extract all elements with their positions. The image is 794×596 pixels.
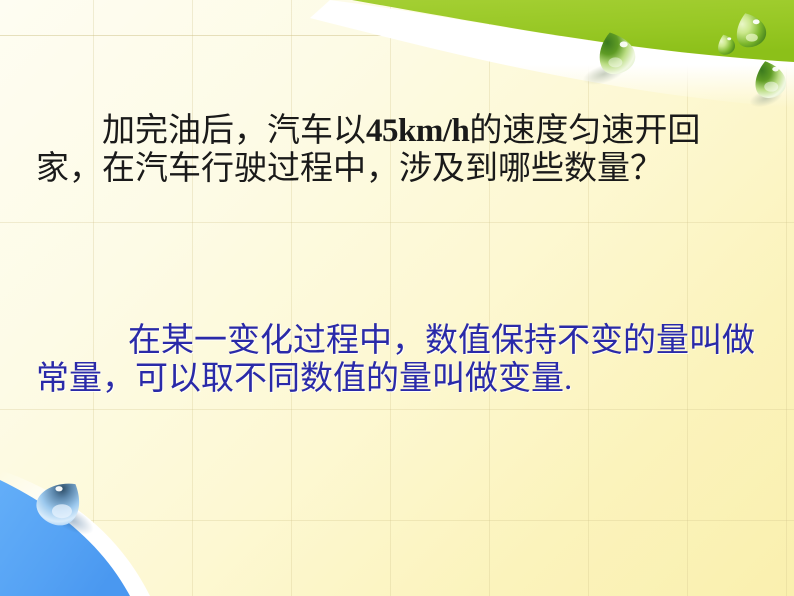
water-droplet-blue [30, 471, 90, 533]
droplet-blue-shadow [42, 497, 98, 541]
green-curved-band [352, 0, 794, 62]
question-text-prefix: 加完油后，汽车以 [102, 113, 366, 149]
question-speed-value: 45km/h [366, 113, 469, 149]
droplet-edge-shadow [580, 59, 627, 90]
water-droplet-medium-green [729, 8, 770, 51]
background-grid [0, 0, 794, 596]
water-droplet-large-green [748, 57, 790, 102]
blue-curved-band [0, 480, 130, 596]
white-curved-band [310, 0, 794, 108]
bottom-decoration-group [0, 436, 330, 596]
question-paragraph: 加完油后，汽车以45km/h的速度匀速开回家，在汽车行驶过程中，涉及到哪些数量？ [36, 112, 762, 189]
water-droplet-small-green [714, 32, 738, 57]
grid-line-horizontal-bottom [0, 520, 794, 521]
water-droplet-edge-green [591, 27, 639, 79]
white-curved-band-bottom [0, 470, 150, 596]
definition-paragraph: 在某一变化过程中，数值保持不变的量叫做常量，可以取不同数值的量叫做变量. [36, 322, 762, 399]
droplet-large-shadow [747, 85, 784, 111]
grid-line-horizontal-top [0, 35, 794, 36]
slide-canvas: 加完油后，汽车以45km/h的速度匀速开回家，在汽车行驶过程中，涉及到哪些数量？… [0, 0, 794, 596]
